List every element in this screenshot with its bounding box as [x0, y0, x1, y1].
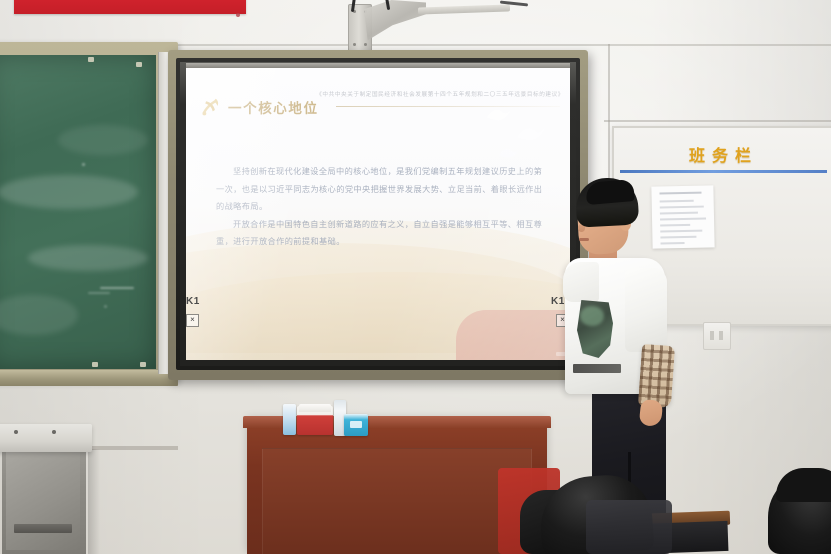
board-clip-top — [88, 57, 94, 62]
board-clip-top-2 — [136, 62, 142, 67]
presenter-sleeve — [625, 268, 667, 352]
posted-notice-paper — [651, 185, 714, 248]
presenter-shoulder — [563, 262, 599, 302]
presenter-mouth — [579, 238, 589, 241]
red-box-cap — [299, 404, 331, 412]
green-chalkboard — [0, 55, 156, 369]
party-emblem-icon — [200, 96, 221, 117]
presentation-slide: 一个核心地位 《中共中央关于制定国民经济和社会发展第十四个五年规划和二〇三五年远… — [186, 68, 570, 360]
slide-body: 坚持创新在现代化建设全局中的核心地位，是我们党编制五年规划建议历史上的第一次，也… — [216, 163, 546, 251]
podium-front-panel — [262, 448, 532, 554]
rose-accent-shape — [456, 310, 570, 360]
slide-title-rule — [336, 106, 560, 107]
slide-title: 一个核心地位 — [228, 97, 319, 117]
chalk-tray — [0, 370, 178, 386]
bulletin-board-rule — [620, 170, 827, 173]
banner-pin — [236, 13, 240, 17]
red-banner — [14, 0, 246, 14]
cabinet-shadow — [88, 449, 100, 554]
cabinet-face — [6, 452, 80, 550]
tshirt-graphic-highlight — [580, 306, 604, 326]
blue-carton-item[interactable] — [283, 404, 296, 435]
bulletin-board-title: 班务栏 — [614, 142, 831, 166]
cyan-box-label — [350, 421, 362, 428]
wall-mounted-cabinet[interactable] — [0, 424, 92, 452]
dove-icon-3 — [498, 146, 520, 159]
board-clip-bottom — [92, 362, 98, 367]
marker-left-close-icon[interactable]: × — [186, 314, 199, 327]
classroom-scene: 一个核心地位 《中共中央关于制定国民经济和社会发展第十四个五年规划和二〇三五年远… — [0, 0, 831, 554]
slide-paragraph-2: 开放合作是中国特色自主创新道路的应有之义，自立自强是能够相互平等、相互尊重，进行… — [216, 216, 546, 251]
board-clip-bottom-2 — [140, 362, 146, 367]
slide-paragraph-1: 坚持创新在现代化建设全局中的核心地位，是我们党编制五年规划建议历史上的第一次，也… — [216, 163, 546, 216]
tshirt-graphic-text — [573, 364, 621, 373]
dove-icon-2 — [516, 124, 546, 142]
wall-outlet[interactable] — [703, 322, 731, 350]
seated-student-left-body — [586, 500, 672, 554]
presenter-plaid-sleeve — [638, 344, 675, 408]
cabinet-vent-slot — [14, 524, 72, 533]
smart-tv-screen[interactable]: 一个核心地位 《中共中央关于制定国民经济和社会发展第十四个五年规划和二〇三五年远… — [186, 68, 570, 360]
marker-right-k1[interactable]: K1 — [551, 296, 565, 307]
marker-left-k1[interactable]: K1 — [186, 296, 200, 307]
wall-seam-bulletin-top — [604, 120, 831, 122]
slide-corner-note: 《中共中央关于制定国民经济和社会发展第十四个五年规划和二〇三五年远景目标的建议》 — [316, 90, 564, 98]
